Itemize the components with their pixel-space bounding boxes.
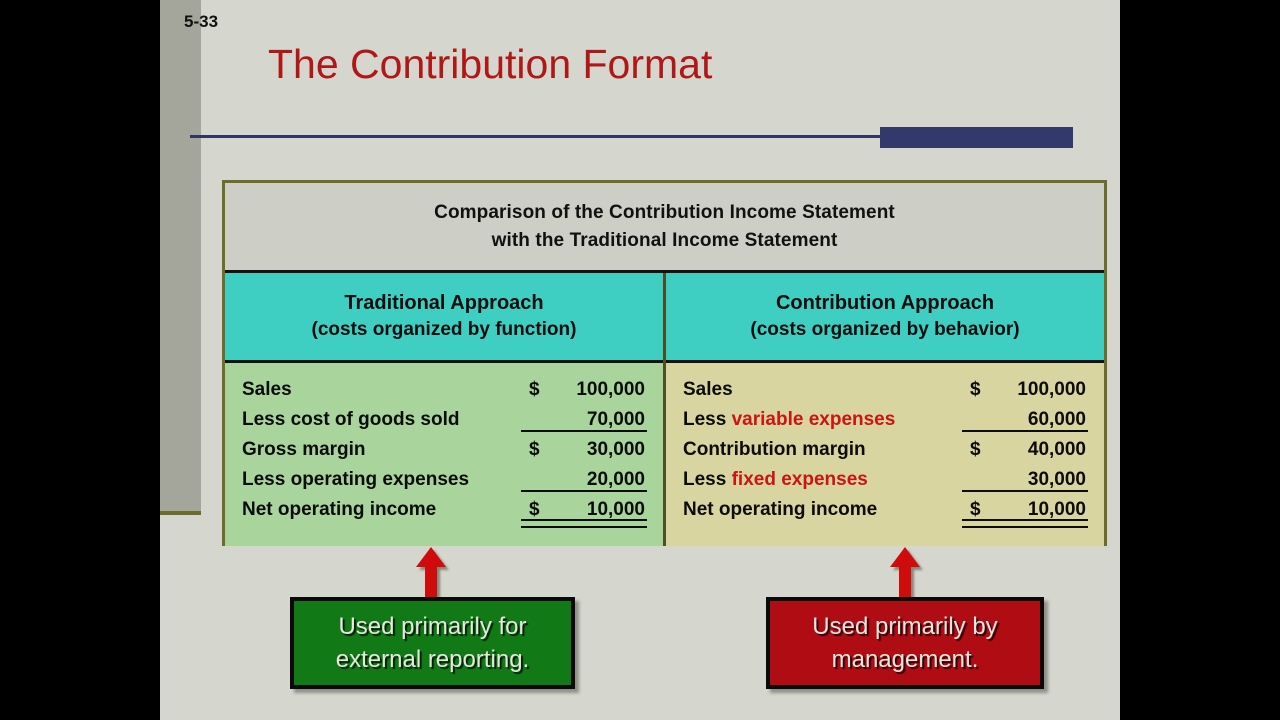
row-amount: $30,000: [521, 437, 647, 463]
statement-traditional: Sales $100,000 Less cost of goods sold 7…: [225, 363, 663, 546]
row-label: Less cost of goods sold: [242, 407, 521, 433]
row-label: Net operating income: [242, 497, 521, 523]
amount-value: 30,000: [587, 439, 645, 460]
table-caption: Comparison of the Contribution Income St…: [225, 183, 1104, 273]
row-label-highlight: variable expenses: [732, 409, 896, 430]
row-label: Gross margin: [242, 437, 521, 463]
currency-symbol: $: [970, 437, 981, 463]
table-row: Sales $100,000: [225, 377, 663, 407]
amount-value: 10,000: [587, 499, 645, 520]
table-body: Traditional Approach (costs organized by…: [225, 273, 1104, 546]
row-amount: 20,000: [521, 467, 647, 493]
row-label-plain: Less: [683, 409, 732, 430]
column-title: Contribution Approach: [776, 290, 994, 317]
currency-symbol: $: [970, 377, 981, 403]
arrow-up-icon: [414, 547, 448, 599]
currency-symbol: $: [529, 497, 540, 523]
column-header-traditional: Traditional Approach (costs organized by…: [225, 273, 663, 363]
column-subtitle: (costs organized by behavior): [750, 317, 1019, 343]
table-row: Net operating income $10,000: [666, 497, 1104, 527]
slide-left-decorative-band: [160, 0, 201, 511]
row-amount: 60,000: [962, 407, 1088, 433]
slide-left-band-rule: [160, 511, 201, 515]
table-row: Net operating income $10,000: [225, 497, 663, 527]
table-row: Less variable expenses 60,000: [666, 407, 1104, 437]
currency-symbol: $: [529, 437, 540, 463]
row-label-plain: Sales: [683, 379, 733, 400]
amount-value: 10,000: [1028, 499, 1086, 520]
table-row: Less fixed expenses 30,000: [666, 467, 1104, 497]
column-header-contribution: Contribution Approach (costs organized b…: [666, 273, 1104, 363]
column-title: Traditional Approach: [344, 290, 543, 317]
amount-value: 60,000: [1028, 409, 1086, 430]
amount-value: 100,000: [1017, 379, 1086, 400]
row-amount: $10,000: [521, 497, 647, 523]
amount-value: 40,000: [1028, 439, 1086, 460]
row-amount: $100,000: [521, 377, 647, 403]
arrow-up-icon: [888, 547, 922, 599]
callout-line-1: Used primarily by: [812, 610, 997, 643]
table-row: Gross margin $30,000: [225, 437, 663, 467]
page-title: The Contribution Format: [268, 44, 712, 85]
currency-symbol: $: [529, 377, 540, 403]
amount-value: 100,000: [576, 379, 645, 400]
row-amount: $40,000: [962, 437, 1088, 463]
row-label: Contribution margin: [683, 437, 962, 463]
title-accent-block: [880, 127, 1073, 148]
table-row: Less cost of goods sold 70,000: [225, 407, 663, 437]
statement-contribution: Sales $100,000 Less variable expenses 60…: [666, 363, 1104, 546]
amount-value: 70,000: [587, 409, 645, 430]
row-amount: $100,000: [962, 377, 1088, 403]
row-label: Less fixed expenses: [683, 467, 962, 493]
row-label: Less variable expenses: [683, 407, 962, 433]
table-caption-line-2: with the Traditional Income Statement: [492, 227, 838, 255]
row-label: Net operating income: [683, 497, 962, 523]
comparison-table: Comparison of the Contribution Income St…: [222, 180, 1107, 546]
column-traditional-approach: Traditional Approach (costs organized by…: [225, 273, 666, 546]
table-row: Less operating expenses 20,000: [225, 467, 663, 497]
row-amount: 70,000: [521, 407, 647, 433]
screenshot-stage: 5-33 The Contribution Format Comparison …: [0, 0, 1280, 720]
table-caption-line-1: Comparison of the Contribution Income St…: [434, 199, 895, 227]
row-label-plain: Less: [683, 469, 732, 490]
row-label-plain: Net operating income: [683, 499, 877, 520]
callout-management-use: Used primarily by management.: [766, 597, 1044, 689]
table-row: Sales $100,000: [666, 377, 1104, 407]
amount-value: 30,000: [1028, 469, 1086, 490]
row-label: Less operating expenses: [242, 467, 521, 493]
callout-line-2: management.: [832, 643, 979, 676]
slide-number: 5-33: [184, 12, 218, 32]
callout-external-reporting: Used primarily for external reporting.: [290, 597, 575, 689]
row-label: Sales: [242, 377, 521, 403]
row-amount: $10,000: [962, 497, 1088, 523]
column-subtitle: (costs organized by function): [312, 317, 577, 343]
row-amount: 30,000: [962, 467, 1088, 493]
amount-value: 20,000: [587, 469, 645, 490]
row-label: Sales: [683, 377, 962, 403]
column-contribution-approach: Contribution Approach (costs organized b…: [666, 273, 1104, 546]
callout-line-2: external reporting.: [336, 643, 529, 676]
presentation-slide: 5-33 The Contribution Format Comparison …: [160, 0, 1120, 720]
callout-line-1: Used primarily for: [338, 610, 526, 643]
row-label-highlight: fixed expenses: [732, 469, 868, 490]
row-label-plain: Contribution margin: [683, 439, 866, 460]
currency-symbol: $: [970, 497, 981, 523]
table-row: Contribution margin $40,000: [666, 437, 1104, 467]
